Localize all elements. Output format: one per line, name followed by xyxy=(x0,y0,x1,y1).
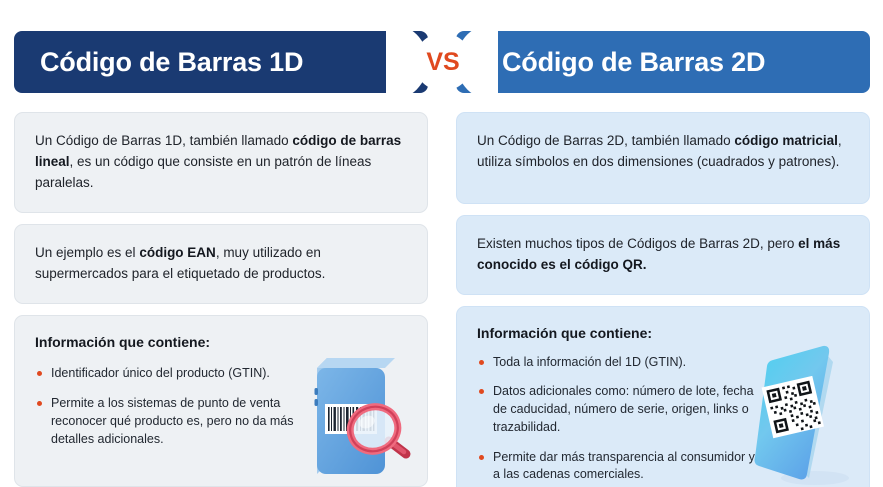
card-1d-example: Un ejemplo es el código EAN, muy utiliza… xyxy=(14,224,428,304)
card-2d-info: Información que contiene: Toda la inform… xyxy=(456,306,870,487)
card-2d-types-text: Existen muchos tipos de Códigos de Barra… xyxy=(457,216,869,294)
vs-label: VS xyxy=(426,48,459,77)
info-bullets-2d: Toda la información del 1D (GTIN). Datos… xyxy=(477,354,849,485)
card-1d-info-body: Información que contiene: Identificador … xyxy=(15,316,427,465)
card-2d-info-body: Información que contiene: Toda la inform… xyxy=(457,307,869,487)
list-item: Identificador único del producto (GTIN). xyxy=(35,365,313,383)
text-part-1: Un Código de Barras 1D, también llamado xyxy=(35,133,292,148)
header-banner-2d: Código de Barras 2D xyxy=(456,31,870,93)
vs-badge: VS xyxy=(414,33,472,91)
header-banner-1d: Código de Barras 1D xyxy=(14,31,428,93)
column-2d: Un Código de Barras 2D, también llamado … xyxy=(456,112,870,487)
info-title-2d: Información que contiene: xyxy=(477,323,849,345)
card-1d-definition: Un Código de Barras 1D, también llamado … xyxy=(14,112,428,213)
text-part-1: Un ejemplo es el xyxy=(35,245,139,260)
card-1d-definition-text: Un Código de Barras 1D, también llamado … xyxy=(15,113,427,212)
text-part-1: Un Código de Barras 2D, también llamado xyxy=(477,133,734,148)
text-part-2: , es un código que consiste en un patrón… xyxy=(35,154,371,190)
column-1d: Un Código de Barras 1D, también llamado … xyxy=(14,112,428,487)
list-item: Permite dar más transparencia al consumi… xyxy=(477,449,755,485)
card-2d-definition: Un Código de Barras 2D, también llamado … xyxy=(456,112,870,204)
text-part-1: Existen muchos tipos de Códigos de Barra… xyxy=(477,236,798,251)
list-item: Datos adicionales como: número de lote, … xyxy=(477,383,755,436)
text-bold-1: código EAN xyxy=(139,245,216,260)
info-title-1d: Información que contiene: xyxy=(35,332,407,354)
card-1d-example-text: Un ejemplo es el código EAN, muy utiliza… xyxy=(15,225,427,303)
header-title-2d: Código de Barras 2D xyxy=(502,47,765,78)
card-2d-types: Existen muchos tipos de Códigos de Barra… xyxy=(456,215,870,295)
card-1d-info: Información que contiene: Identificador … xyxy=(14,315,428,487)
header-row: Código de Barras 1D Código de Barras 2D … xyxy=(0,31,883,93)
text-bold-1: código matricial xyxy=(734,133,838,148)
infographic-page: Código de Barras 1D Código de Barras 2D … xyxy=(0,0,883,487)
list-item: Toda la información del 1D (GTIN). xyxy=(477,354,755,372)
card-2d-definition-text: Un Código de Barras 2D, también llamado … xyxy=(457,113,869,191)
info-bullets-1d: Identificador único del producto (GTIN).… xyxy=(35,365,407,448)
header-title-1d: Código de Barras 1D xyxy=(40,47,303,78)
list-item: Permite a los sistemas de punto de venta… xyxy=(35,395,313,448)
